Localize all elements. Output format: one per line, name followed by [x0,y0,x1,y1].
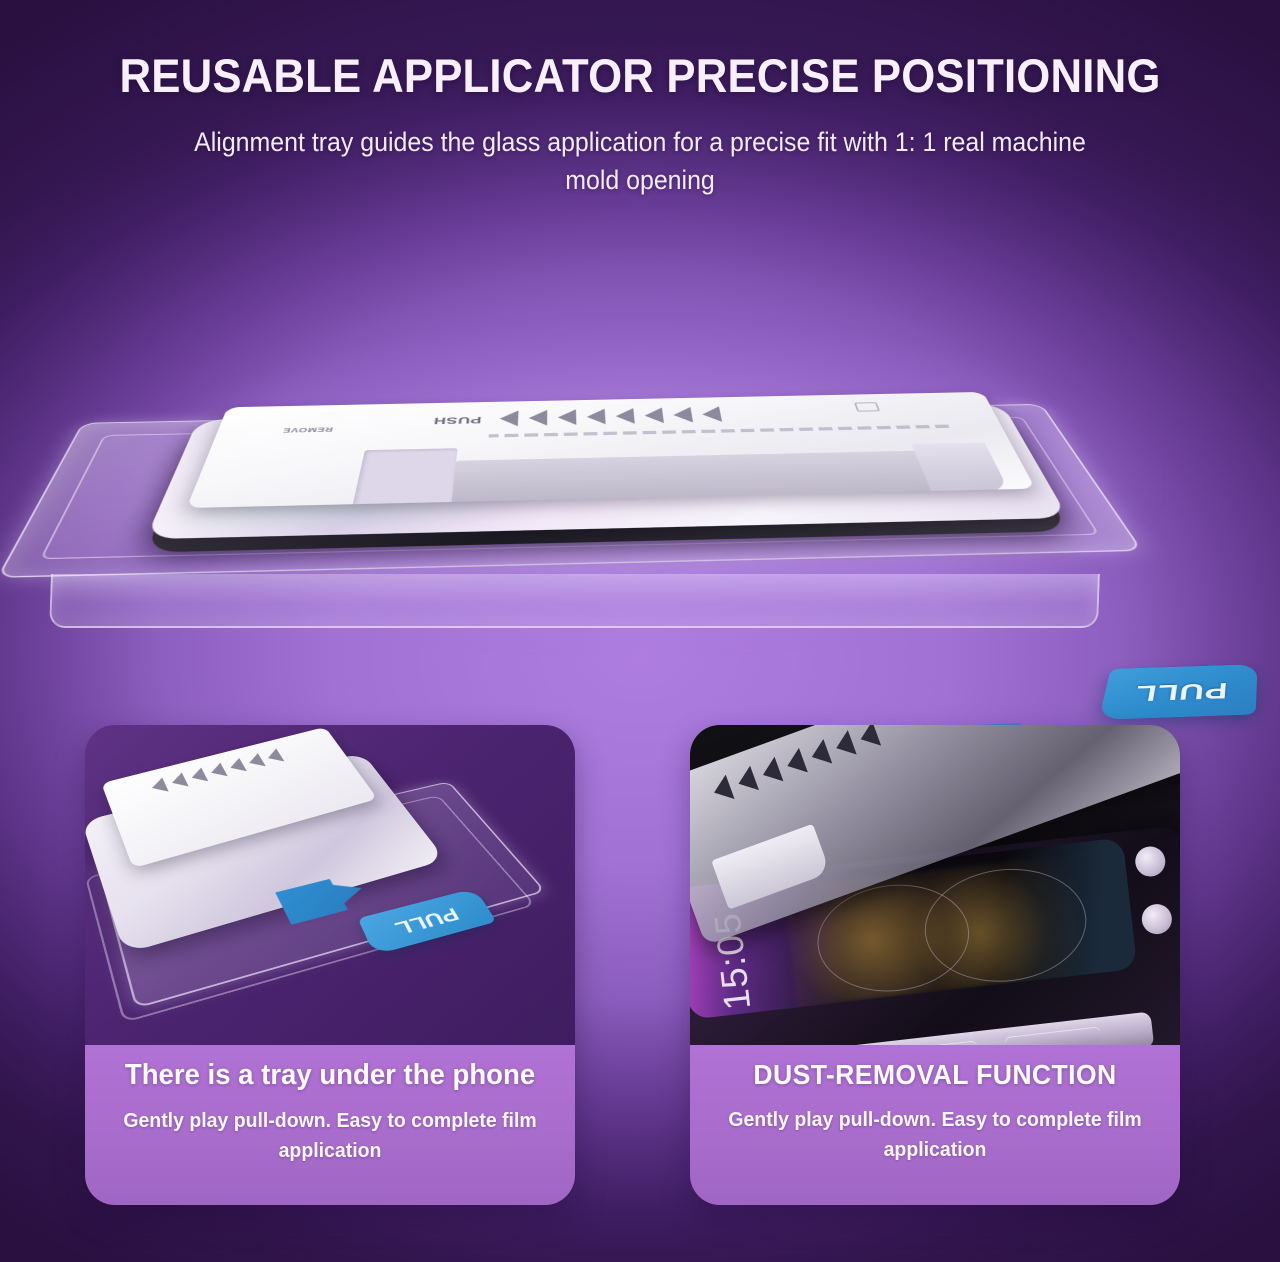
phone-side-edge [699,1011,1154,1045]
chevron-icon [586,409,605,425]
chevron-icon [734,766,759,796]
chevron-icon [499,410,518,426]
applicator-marker-icon [854,402,880,412]
chevron-icon [188,768,208,785]
chevron-icon [264,749,284,765]
push-label: PUSH [433,414,482,425]
card-subtitle: Gently play pull-down. Easy to complete … [114,1106,545,1165]
card-subtitle: Gently play pull-down. Easy to complete … [719,1105,1150,1164]
product-feature-page: REUSABLE APPLICATOR PRECISE POSITIONING … [0,0,1280,1262]
chevron-icon [832,730,857,760]
camera-module [1132,844,1180,944]
volume-down-button [897,1040,978,1045]
hero-product-illustration: PUSH REMOVE the glass PULL [0,300,1280,680]
feature-card-tray: PULL There is a tray under the phone Gen… [85,725,575,1205]
chevron-icon [759,757,784,787]
pull-tab-label: PULL [1132,677,1228,705]
card-photo-tray: PULL [85,725,575,1045]
feature-cards: PULL There is a tray under the phone Gen… [0,725,1280,1225]
chevron-icon [245,753,265,769]
chevron-icon [615,408,635,424]
card-title: There is a tray under the phone [114,1059,545,1092]
page-title: REUSABLE APPLICATOR PRECISE POSITIONING [45,52,1235,101]
camera-lens-icon [1134,845,1167,878]
power-button [1004,1026,1101,1045]
chevron-icon [227,758,247,775]
chevron-icon [558,409,577,425]
applicator-cutout [711,824,830,910]
pull-tab: PULL [1099,664,1258,720]
chevron-icon [169,773,189,790]
chevron-icon [672,407,693,423]
applicator-notch [353,448,458,505]
chevron-icon [644,408,664,424]
camera-lens-icon [1140,903,1173,936]
chevron-icon [529,410,548,426]
header: REUSABLE APPLICATOR PRECISE POSITIONING … [0,0,1280,199]
remove-label: REMOVE [282,426,334,433]
pull-tab-label: PULL [391,903,462,938]
card-text-panel: DUST-REMOVAL FUNCTION Gently play pull-d… [690,1045,1180,1205]
chevron-arrow-group [149,749,284,796]
chevron-icon [149,778,169,796]
chevron-icon [807,739,832,769]
chevron-icon [710,775,735,805]
applicator-fine-print [489,425,950,438]
feature-card-dust-removal: 15:05 [690,725,1180,1205]
tray-front-wall [49,574,1100,628]
applicator-card: PUSH REMOVE [187,392,1036,508]
card-photo-dust-removal: 15:05 [690,725,1180,1045]
page-subtitle: Alignment tray guides the glass applicat… [189,123,1091,199]
chevron-icon [856,725,881,751]
chevron-icon [783,748,808,778]
chevron-icon [701,406,722,422]
card-title: DUST-REMOVAL FUNCTION [719,1059,1150,1091]
chevron-icon [208,763,228,780]
card-text-panel: There is a tray under the phone Gently p… [85,1045,575,1205]
push-chevron-arrows [499,406,722,426]
chevron-arrow-group [710,725,881,805]
